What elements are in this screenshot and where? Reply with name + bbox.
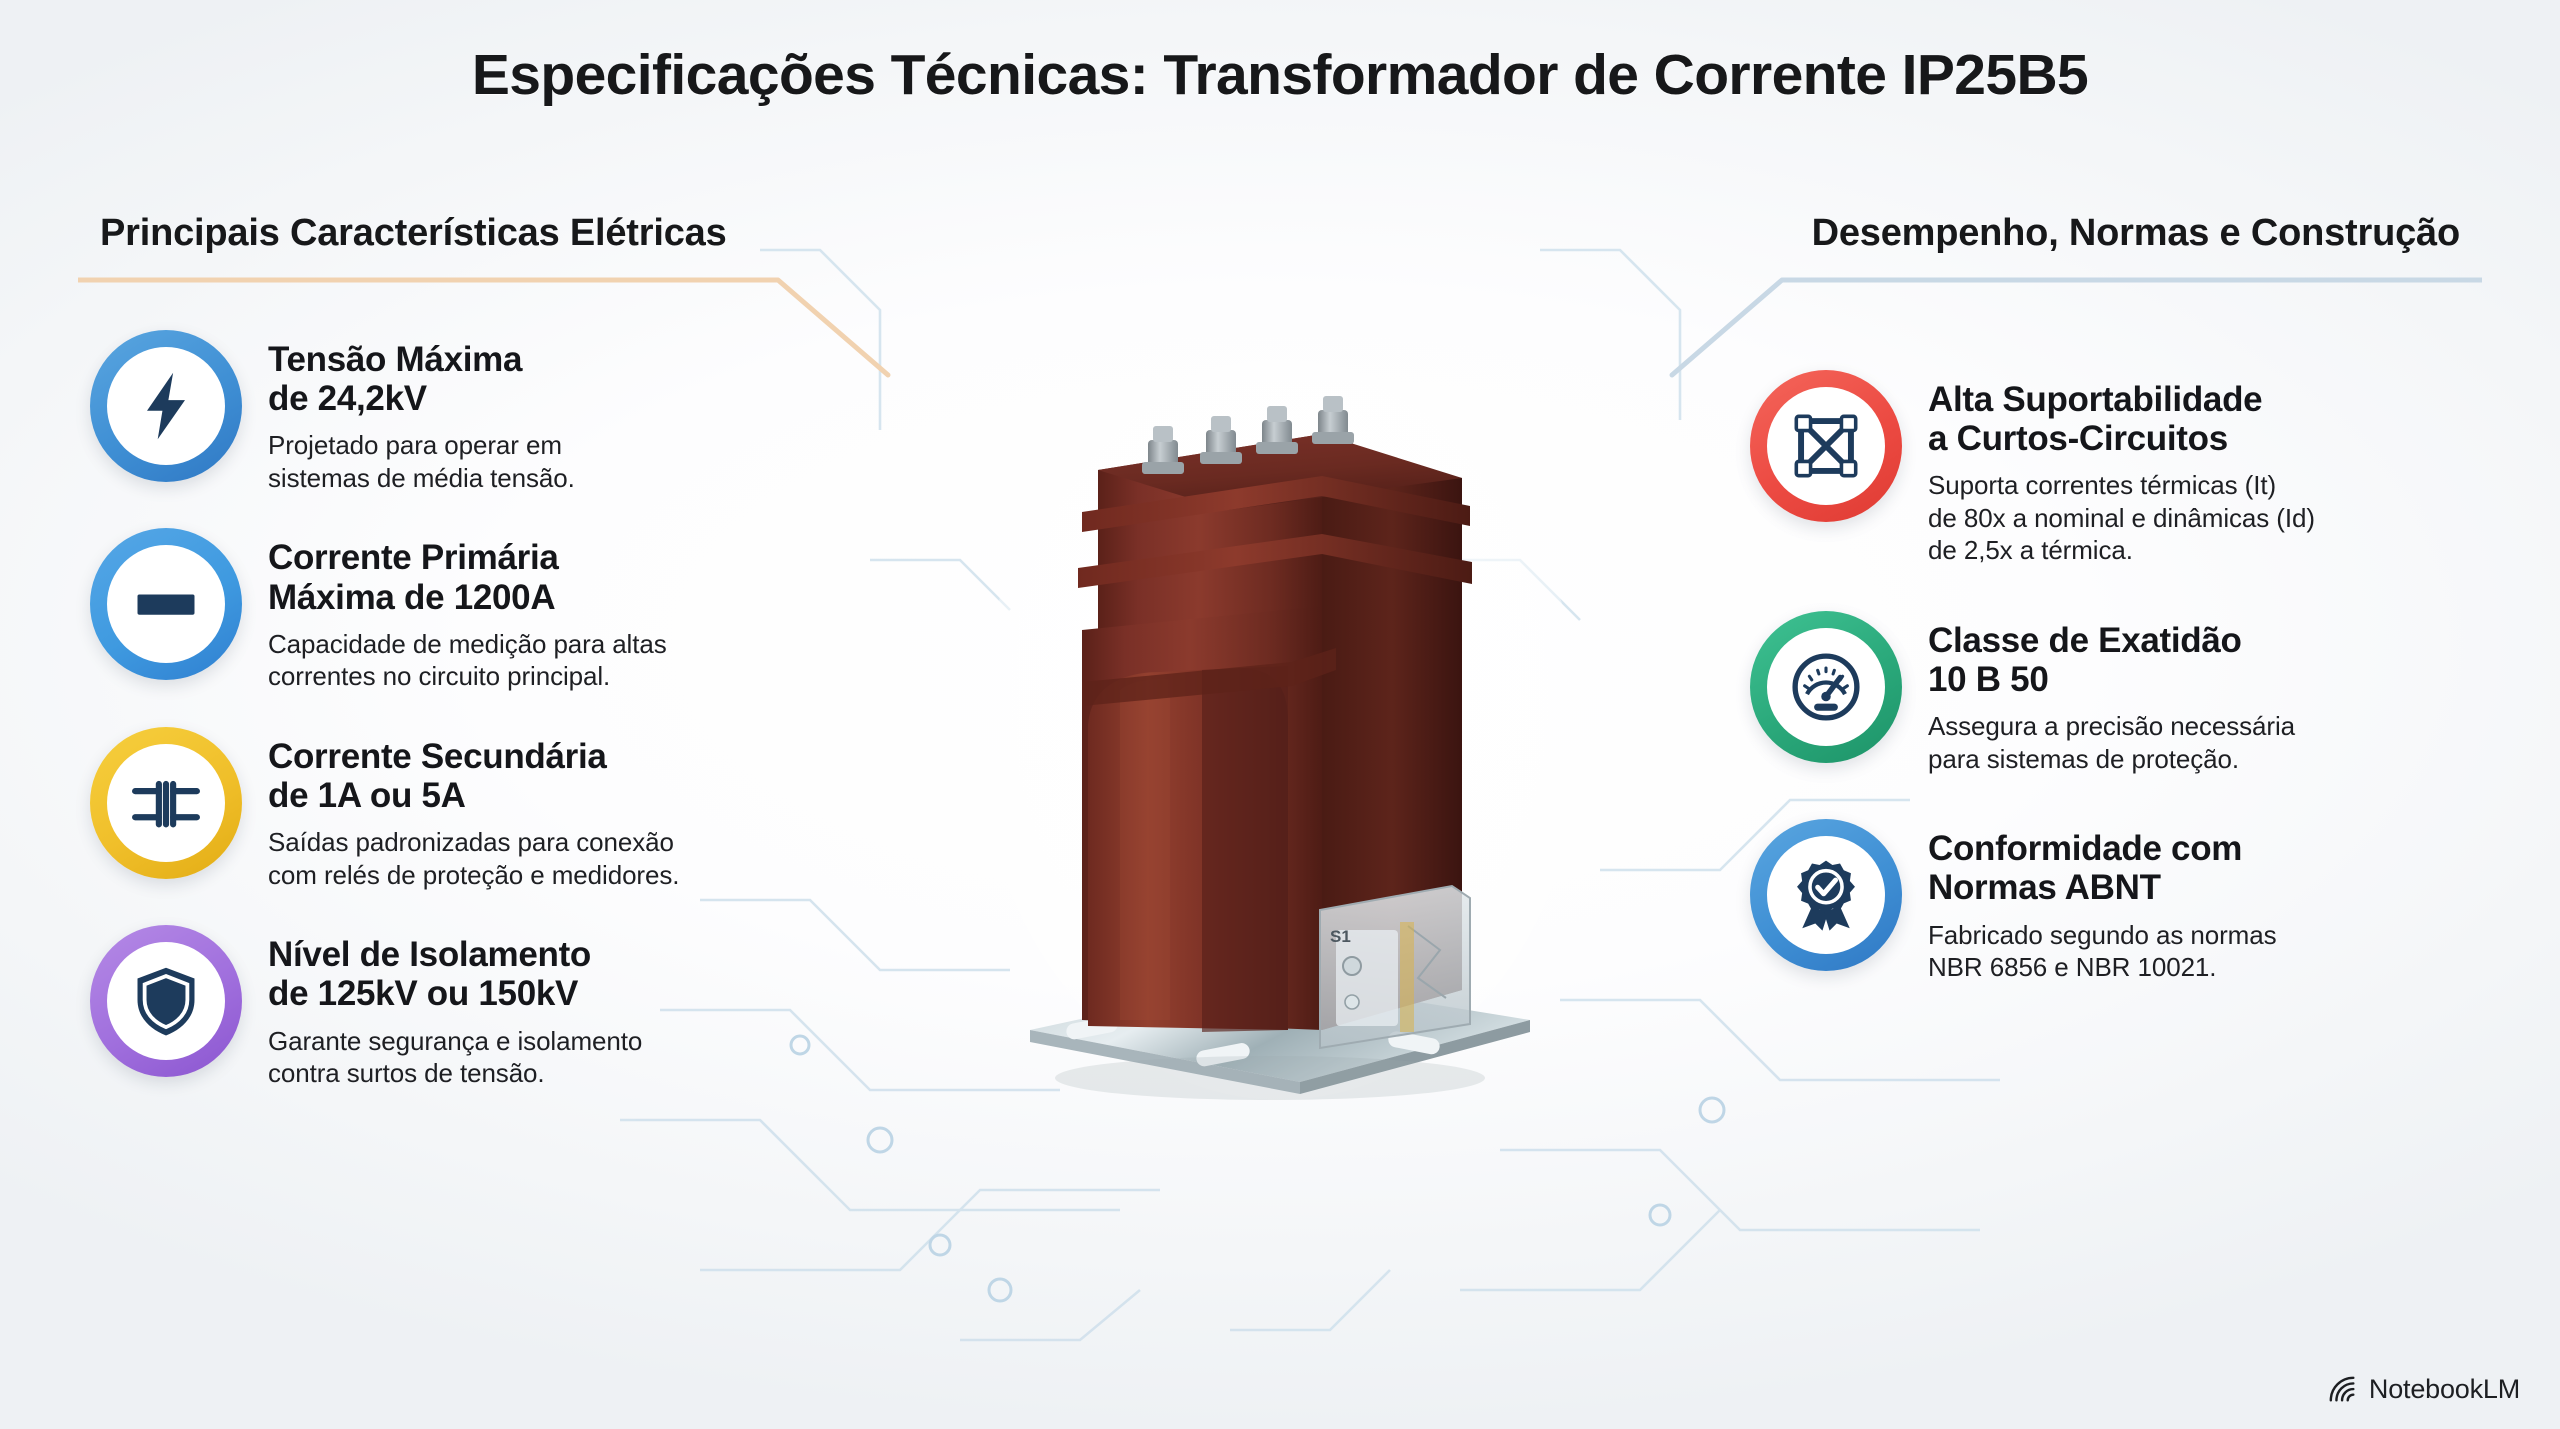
lightning-bolt-icon	[90, 330, 242, 482]
watermark-label: NotebookLM	[2369, 1374, 2520, 1405]
shield-glyph	[128, 963, 204, 1039]
feature-title: Corrente Secundária de 1A ou 5A	[268, 737, 679, 815]
gauge-icon	[1750, 611, 1902, 763]
feature-description: Garante segurança e isolamento contra su…	[268, 1025, 642, 1090]
feature-title: Corrente Primária Máxima de 1200A	[268, 538, 667, 616]
feature-description: Saídas padronizadas para conexão com rel…	[268, 826, 679, 891]
feature-item: Nível de Isolamento de 125kV ou 150kV Ga…	[90, 925, 830, 1089]
page-title: Especificações Técnicas: Transformador d…	[0, 42, 2560, 108]
feature-text: Conformidade com Normas ABNT Fabricado s…	[1928, 819, 2277, 983]
notebooklm-watermark: NotebookLM	[2328, 1374, 2520, 1405]
feature-item: Conformidade com Normas ABNT Fabricado s…	[1750, 819, 2490, 983]
feature-description: Assegura a precisão necessária para sist…	[1928, 710, 2295, 775]
feature-title: Nível de Isolamento de 125kV ou 150kV	[268, 935, 642, 1013]
right-feature-column: Alta Suportabilidade a Curtos-Circuitos …	[1750, 370, 2490, 1028]
feature-item: Corrente Secundária de 1A ou 5A Saídas p…	[90, 727, 830, 891]
section-heading-right: Desempenho, Normas e Construção	[1812, 212, 2460, 255]
transformer-coil-icon	[90, 727, 242, 879]
feature-text: Nível de Isolamento de 125kV ou 150kV Ga…	[268, 925, 642, 1089]
feature-description: Capacidade de medição para altas corrent…	[268, 628, 667, 693]
transformer-coil-glyph	[128, 765, 204, 841]
divider-right	[1662, 270, 2482, 380]
terminal-label: S1	[1330, 927, 1351, 946]
feature-description: Suporta correntes térmicas (It) de 80x a…	[1928, 469, 2315, 567]
feature-title: Alta Suportabilidade a Curtos-Circuitos	[1928, 380, 2315, 458]
braced-frame-icon	[1750, 370, 1902, 522]
front-nose-column	[1088, 666, 1288, 1032]
infographic-canvas: Especificações Técnicas: Transformador d…	[0, 0, 2560, 1429]
current-transformer-illustration: S1	[970, 330, 1590, 1120]
certificate-badge-glyph	[1788, 857, 1864, 933]
certificate-badge-icon	[1750, 819, 1902, 971]
feature-item: Classe de Exatidão 10 B 50 Assegura a pr…	[1750, 611, 2490, 775]
feature-item: Tensão Máxima de 24,2kV Projetado para o…	[90, 330, 830, 494]
shield-icon	[90, 925, 242, 1077]
left-feature-column: Tensão Máxima de 24,2kV Projetado para o…	[90, 330, 830, 1124]
feature-text: Corrente Primária Máxima de 1200A Capaci…	[268, 528, 667, 692]
feature-text: Tensão Máxima de 24,2kV Projetado para o…	[268, 330, 575, 494]
product-photo: S1	[970, 330, 1590, 1120]
feature-title: Classe de Exatidão 10 B 50	[1928, 621, 2295, 699]
feature-item: Alta Suportabilidade a Curtos-Circuitos …	[1750, 370, 2490, 567]
feature-item: Corrente Primária Máxima de 1200A Capaci…	[90, 528, 830, 692]
feature-text: Alta Suportabilidade a Curtos-Circuitos …	[1928, 370, 2315, 567]
secondary-terminal-block: S1	[1320, 886, 1470, 1048]
braced-frame-glyph	[1788, 408, 1864, 484]
feature-text: Corrente Secundária de 1A ou 5A Saídas p…	[268, 727, 679, 891]
minus-bar-icon	[90, 528, 242, 680]
minus-bar-glyph	[128, 566, 204, 642]
feature-description: Projetado para operar em sistemas de méd…	[268, 429, 575, 494]
feature-title: Conformidade com Normas ABNT	[1928, 829, 2277, 907]
notebooklm-spiral-icon	[2328, 1375, 2358, 1405]
feature-description: Fabricado segundo as normas NBR 6856 e N…	[1928, 919, 2277, 984]
feature-title: Tensão Máxima de 24,2kV	[268, 340, 575, 418]
gauge-glyph	[1788, 649, 1864, 725]
section-heading-left: Principais Características Elétricas	[100, 212, 727, 255]
feature-text: Classe de Exatidão 10 B 50 Assegura a pr…	[1928, 611, 2295, 775]
lightning-bolt-glyph	[128, 368, 204, 444]
